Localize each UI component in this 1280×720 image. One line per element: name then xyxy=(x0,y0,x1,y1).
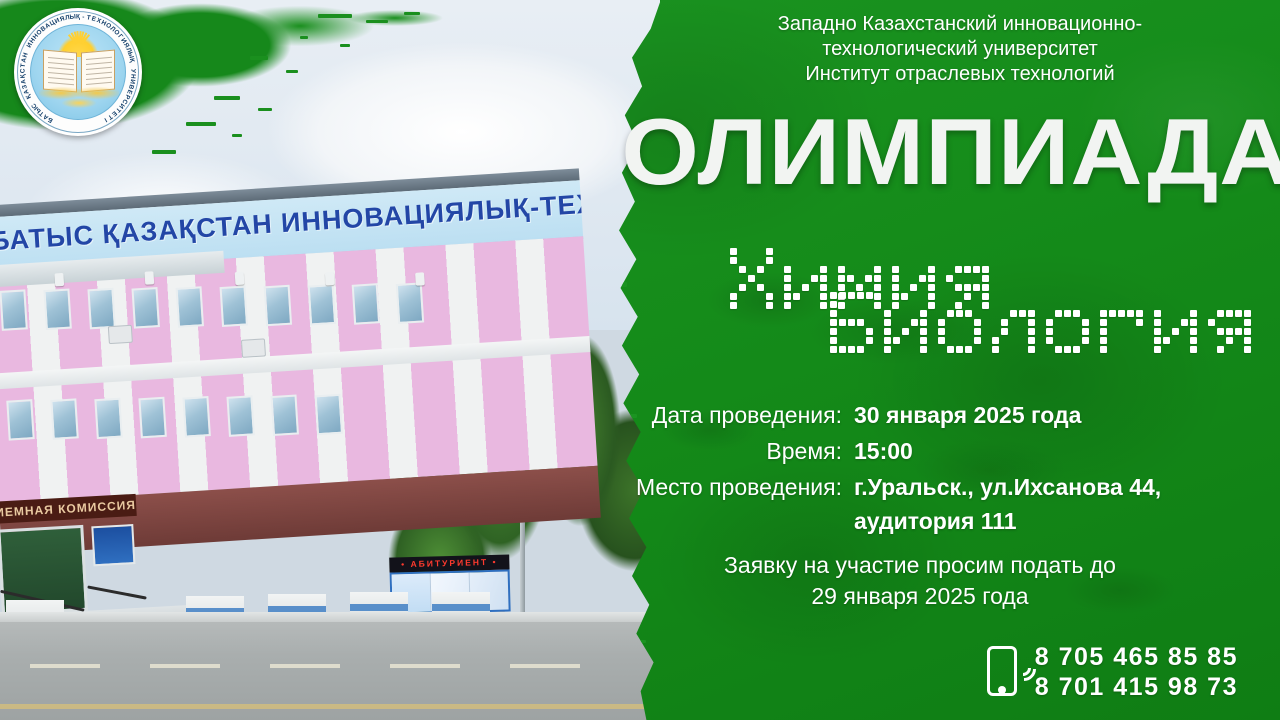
window xyxy=(226,395,254,437)
detail-row-place: Место проведения: г.Уральск., ул.Ихсанов… xyxy=(580,470,1200,538)
university-logo: БАТЫС ҚАЗАҚСТАН ИННОВАЦИЯЛЫҚ-ТЕХНОЛОГИЯЛ… xyxy=(14,8,142,136)
phone-numbers[interactable]: 8 705 465 85 85 8 701 415 98 73 xyxy=(1035,642,1238,702)
detail-row-time: Время: 15:00 xyxy=(580,434,1200,468)
window xyxy=(182,396,210,438)
poster-title: ОЛИМПИАДА xyxy=(621,104,1278,200)
detail-value: г.Уральск., ул.Ихсанова 44, аудитория 11… xyxy=(854,470,1200,538)
olympiad-poster: БАТЫС ҚАЗАҚСТАН ИННОВАЦИЯЛЫҚ-ТЕХНОЛОГИЯЛ… xyxy=(0,0,1280,720)
institution-header: Западно Казахстанский инновационно- техн… xyxy=(660,12,1260,87)
road-marking xyxy=(510,664,580,668)
facade-lamp xyxy=(325,272,335,286)
detail-label: Дата проведения: xyxy=(580,398,854,432)
entrance-notice-board xyxy=(91,524,135,566)
window xyxy=(131,287,159,329)
window xyxy=(315,394,343,436)
window xyxy=(43,289,71,331)
deadline-line-1: Заявку на участие просим подать до xyxy=(620,550,1220,581)
header-line-2: технологический университет xyxy=(660,37,1260,62)
window xyxy=(308,284,336,326)
window xyxy=(0,289,28,331)
window xyxy=(176,286,204,328)
road-marking xyxy=(30,664,100,668)
facade-lamp xyxy=(144,271,154,285)
header-line-3: Институт отраслевых технологий xyxy=(660,62,1260,87)
window xyxy=(87,288,115,330)
window xyxy=(352,283,380,325)
phone-number-1[interactable]: 8 705 465 85 85 xyxy=(1035,642,1238,672)
event-details: Дата проведения: 30 января 2025 года Вре… xyxy=(580,398,1200,540)
header-line-1: Западно Казахстанский инновационно- xyxy=(660,12,1260,37)
detail-value: 15:00 xyxy=(854,434,1200,468)
road-marking xyxy=(150,664,220,668)
detail-value-line-1: г.Уральск., ул.Ихсанова 44, xyxy=(854,474,1161,500)
curb xyxy=(0,612,660,622)
detail-label: Время: xyxy=(580,434,854,468)
application-deadline: Заявку на участие просим подать до 29 ян… xyxy=(620,550,1220,612)
window xyxy=(396,282,424,324)
road-marking xyxy=(270,664,340,668)
mobile-phone-signal-icon xyxy=(987,646,1021,698)
window xyxy=(264,285,292,327)
detail-label: Место проведения: xyxy=(580,470,854,504)
facade-lamp xyxy=(415,272,425,286)
deadline-line-2: 29 января 2025 года xyxy=(620,581,1220,612)
road-marking xyxy=(390,664,460,668)
road-marking-yellow xyxy=(0,704,660,709)
contact-block: 8 705 465 85 85 8 701 415 98 73 xyxy=(987,642,1238,702)
phone-number-2[interactable]: 8 701 415 98 73 xyxy=(1035,672,1238,702)
air-conditioner xyxy=(241,338,266,357)
window xyxy=(6,399,34,441)
window xyxy=(50,398,78,440)
window xyxy=(271,395,299,437)
air-conditioner xyxy=(108,325,133,344)
subjects-block xyxy=(700,248,1160,358)
window xyxy=(138,397,166,439)
window xyxy=(94,398,122,440)
window xyxy=(220,285,248,327)
wheat-ears-icon xyxy=(39,77,119,113)
logo-inner-disc xyxy=(30,24,126,120)
facade-lamp xyxy=(54,273,64,287)
detail-row-date: Дата проведения: 30 января 2025 года xyxy=(580,398,1200,432)
detail-value-line-2: аудитория 111 xyxy=(854,504,1200,538)
detail-value: 30 января 2025 года xyxy=(854,398,1200,432)
facade-lamp xyxy=(235,272,245,286)
road xyxy=(0,612,660,720)
